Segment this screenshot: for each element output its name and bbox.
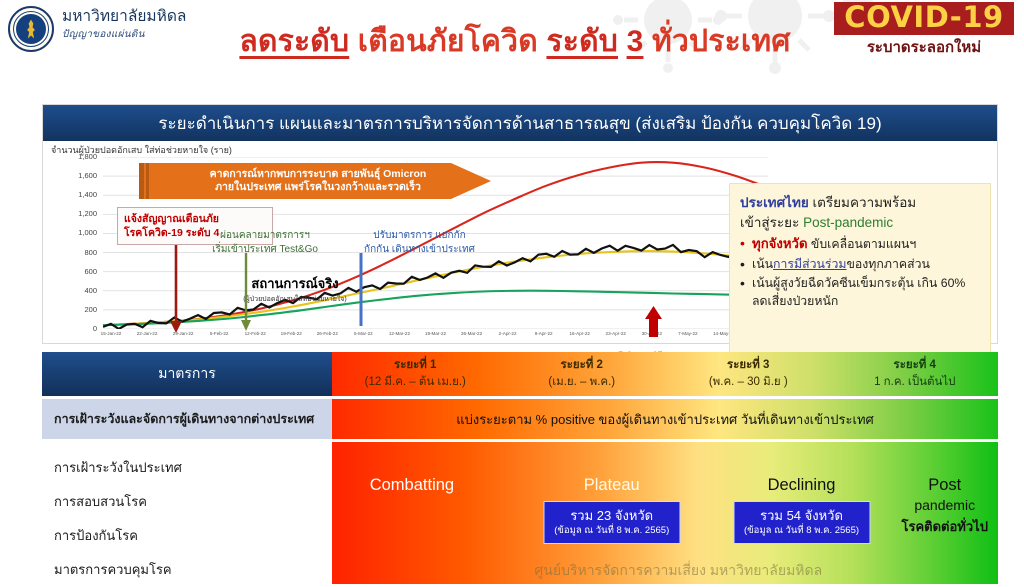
stage-post-pandemic: Post pandemic โรคติดต่อทั่วไป: [901, 476, 987, 537]
title-segment-nationwide: ทั่วประเทศ: [652, 25, 791, 58]
row-label-investigation: การสอบสวนโรค: [42, 484, 332, 518]
bullet1-rest: ขับเคลื่อนตามแผนฯ: [808, 237, 917, 251]
x-tick-label: 23-Apr-22: [606, 331, 626, 336]
omicron-banner-line1: คาดการณ์หากพบการระบาด สายพันธุ์ Omicron: [210, 168, 427, 181]
covid-badge-sublabel: ระบาดระลอกใหม่: [867, 39, 981, 56]
declining-chip-main: รวม 54 จังหวัด: [744, 507, 859, 525]
table-header-row: มาตรการ ระยะที่ 1 (12 มี.ค. – ต้น เม.ย.)…: [42, 352, 998, 396]
real-situation-sub: (ผู้ป่วยปอดอักเสบใส่ท่อช่วยหายใจ): [215, 294, 375, 305]
phase2-sub: (เม.ย. – พ.ค.): [548, 374, 615, 391]
row-label-column: การเฝ้าระวังในประเทศ การสอบสวนโรค การป้อ…: [42, 442, 332, 584]
chart-area: จำนวนผู้ป่วยปอดอักเสบ ใส่ท่อช่วยหายใจ (ร…: [43, 141, 997, 345]
stage-declining-label: Declining: [733, 476, 870, 495]
x-tick-label: 5-Feb-22: [210, 331, 229, 336]
title-segment-reduce: ลดระดับ: [239, 25, 349, 58]
readiness-line2-pre: เข้าสู่ระยะ: [740, 215, 803, 230]
bullet1-red: ทุกจังหวัด: [752, 236, 808, 251]
y-tick-label: 1,600: [55, 171, 97, 180]
bullet2-rest: ของทุกภาคส่วน: [847, 257, 930, 271]
covid-badge: COVID-19 ระบาดระลอกใหม่: [834, 2, 1014, 59]
page-header: มหาวิทยาลัยมหิดล ปัญญาของแผ่นดิน ลดระดับ…: [0, 0, 1024, 92]
x-tick-label: 26-Feb-22: [317, 331, 338, 336]
row-label-travel-surveillance: การเฝ้าระวังและจัดการผู้เดินทางจากต่างปร…: [42, 399, 332, 439]
page-title: ลดระดับ เตือนภัยโควิด ระดับ 3 ทั่วประเทศ: [205, 18, 825, 65]
plateau-chip-main: รวม 23 จังหวัด: [554, 507, 669, 525]
x-tick-label: 19-Feb-22: [281, 331, 302, 336]
x-tick-label: 7-May-22: [678, 331, 697, 336]
stage-endemic-label: โรคติดต่อทั่วไป: [901, 516, 987, 537]
quarantine-annotation: ปรับมาตรการ แยกกัก กักกัน เดินทางเข้าประ…: [327, 229, 512, 257]
row-label-prevention: การป้องกันโรค: [42, 518, 332, 552]
table-body: การเฝ้าระวังในประเทศ การสอบสวนโรค การป้อ…: [42, 442, 998, 584]
university-name: มหาวิทยาลัยมหิดล: [62, 6, 186, 25]
stage-pandemic-label: pandemic: [901, 497, 987, 513]
phase3-title: ระยะที่ 3: [727, 357, 769, 374]
real-situation-title: สถานการณ์จริง: [215, 273, 375, 294]
row-value-travel-surveillance: แบ่งระยะตาม % positive ของผู้เดินทางเข้า…: [332, 399, 998, 439]
y-tick-label: 200: [55, 305, 97, 314]
x-tick-label: 30-Apr-22: [642, 331, 662, 336]
x-tick-label: 2-Apr-22: [499, 331, 517, 336]
declining-province-chip: รวม 54 จังหวัด (ข้อมูล ณ วันที่ 8 พ.ค. 2…: [733, 501, 870, 544]
quarantine-line1: ปรับมาตรการ แยกกัก: [327, 229, 512, 243]
x-tick-label: 26-Mar-22: [461, 331, 482, 336]
x-tick-label: 22-Jan-22: [137, 331, 158, 336]
readiness-bullet-3: เน้นผู้สูงวัยฉีดวัคซีนเข็มกระตุ้น เกิน 6…: [740, 275, 980, 310]
phase4-title: ระยะที่ 4: [894, 357, 936, 374]
phase2-title: ระยะที่ 2: [561, 357, 603, 374]
x-tick-label: 5-Mar-22: [354, 331, 373, 336]
y-tick-label: 1,200: [55, 209, 97, 218]
real-situation-annotation: สถานการณ์จริง (ผู้ป่วยปอดอักเสบใส่ท่อช่ว…: [215, 273, 375, 305]
x-tick-label: 12-Mar-22: [389, 331, 410, 336]
covid-badge-label: COVID-19: [834, 2, 1014, 35]
phase-header-2: ระยะที่ 2 (เม.ย. – พ.ค.): [499, 352, 666, 396]
thailand-readiness-card: ประเทศไทย เตรียมความพร้อม เข้าสู่ระยะ Po…: [729, 183, 991, 371]
post-pandemic-text: Post-pandemic: [803, 215, 893, 230]
stage-combatting: Combatting: [370, 476, 454, 495]
chart-x-axis: 15-Jan-2222-Jan-2229-Jan-225-Feb-2212-Fe…: [103, 331, 768, 343]
phase-header-1: ระยะที่ 1 (12 มี.ค. – ต้น เม.ย.): [332, 352, 499, 396]
health-plan-panel: ระยะดำเนินการ แผนและมาตรการบริหารจัดการด…: [42, 104, 998, 344]
x-tick-label: 9-Apr-22: [535, 331, 553, 336]
alert-line1: แจ้งสัญญาณเตือนภัย: [124, 212, 266, 226]
phase1-title: ระยะที่ 1: [394, 357, 436, 374]
plateau-province-chip: รวม 23 จังหวัด (ข้อมูล ณ วันที่ 8 พ.ค. 2…: [543, 501, 680, 544]
y-tick-label: 600: [55, 267, 97, 276]
readiness-line1-rest: เตรียมความพร้อม: [809, 195, 916, 210]
y-tick-label: 400: [55, 286, 97, 295]
stage-gradient-band: Combatting Plateau รวม 23 จังหวัด (ข้อมู…: [332, 442, 998, 584]
readiness-line1: ประเทศไทย เตรียมความพร้อม: [740, 193, 980, 213]
bullet2-underlined: การมีส่วนร่วม: [773, 257, 847, 271]
bullet2-pre: เน้น: [752, 257, 773, 271]
panel-title: ระยะดำเนินการ แผนและมาตรการบริหารจัดการด…: [43, 105, 997, 141]
x-tick-label: 15-Jan-22: [101, 331, 122, 336]
title-segment-number: 3: [627, 25, 644, 58]
measures-table: มาตรการ ระยะที่ 1 (12 มี.ค. – ต้น เม.ย.)…: [42, 352, 998, 584]
stage-combatting-label: Combatting: [370, 476, 454, 495]
y-tick-label: 1,800: [55, 152, 97, 161]
row-label-control-measures: มาตรการควบคุมโรค: [42, 552, 332, 586]
measure-column-header: มาตรการ: [42, 352, 332, 396]
phase3-sub: (พ.ค. – 30 มิ.ย ): [709, 374, 788, 391]
x-tick-label: 19-Mar-22: [425, 331, 446, 336]
stage-post-label: Post: [901, 476, 987, 495]
readiness-bullet-list: ทุกจังหวัด ขับเคลื่อนตามแผนฯ เน้นการมีส่…: [740, 235, 980, 310]
chart-y-axis: 02004006008001,0001,2001,4001,6001,800: [51, 157, 97, 329]
quarantine-line2: กักกัน เดินทางเข้าประเทศ: [327, 243, 512, 257]
mahidol-seal-icon: [8, 6, 54, 52]
x-tick-label: 29-Jan-22: [173, 331, 194, 336]
stage-declining: Declining รวม 54 จังหวัด (ข้อมูล ณ วันที…: [733, 476, 870, 544]
bullet3-text: เน้นผู้สูงวัยฉีดวัคซีนเข็มกระตุ้น เกิน 6…: [752, 276, 965, 307]
plateau-chip-sub: (ข้อมูล ณ วันที่ 8 พ.ค. 2565): [554, 525, 669, 538]
y-tick-label: 0: [55, 324, 97, 333]
university-motto: ปัญญาของแผ่นดิน: [62, 27, 186, 42]
readiness-line2: เข้าสู่ระยะ Post-pandemic: [740, 213, 980, 233]
readiness-bullet-1: ทุกจังหวัด ขับเคลื่อนตามแผนฯ: [740, 235, 980, 254]
y-tick-label: 1,000: [55, 228, 97, 237]
phase4-sub: 1 ก.ค. เป็นต้นไป: [874, 374, 955, 391]
phase-header-4: ระยะที่ 4 1 ก.ค. เป็นต้นไป: [832, 352, 999, 396]
declining-chip-sub: (ข้อมูล ณ วันที่ 8 พ.ค. 2565): [744, 525, 859, 538]
mahidol-logo-block: มหาวิทยาลัยมหิดล ปัญญาของแผ่นดิน: [8, 6, 186, 52]
omicron-banner-line2: ภายในประเทศ แพร่โรคในวงกว้างและรวดเร็ว: [215, 181, 421, 194]
readiness-bullet-2: เน้นการมีส่วนร่วมของทุกภาคส่วน: [740, 256, 980, 273]
title-segment-warning: เตือนภัยโควิด: [358, 25, 538, 58]
omicron-projection-banner: คาดการณ์หากพบการระบาด สายพันธุ์ Omicron …: [139, 161, 491, 201]
x-tick-label: 16-Apr-22: [570, 331, 590, 336]
phase-headers: ระยะที่ 1 (12 มี.ค. – ต้น เม.ย.) ระยะที่…: [332, 352, 998, 396]
row-label-domestic-surveillance: การเฝ้าระวังในประเทศ: [42, 450, 332, 484]
stage-plateau: Plateau รวม 23 จังหวัด (ข้อมูล ณ วันที่ …: [543, 476, 680, 544]
phase1-sub: (12 มี.ค. – ต้น เม.ย.): [365, 374, 466, 391]
title-segment-level: ระดับ: [546, 25, 618, 58]
stage-plateau-label: Plateau: [543, 476, 680, 495]
footer-credit: ศูนย์บริหารจัดการความเสี่ยง มหาวิทยาลัยม…: [534, 560, 822, 582]
y-tick-label: 1,400: [55, 190, 97, 199]
phase-header-3: ระยะที่ 3 (พ.ค. – 30 มิ.ย ): [665, 352, 832, 396]
y-tick-label: 800: [55, 248, 97, 257]
x-tick-label: 12-Feb-22: [245, 331, 266, 336]
readiness-country: ประเทศไทย: [740, 195, 809, 210]
table-row: การเฝ้าระวังและจัดการผู้เดินทางจากต่างปร…: [42, 399, 998, 439]
